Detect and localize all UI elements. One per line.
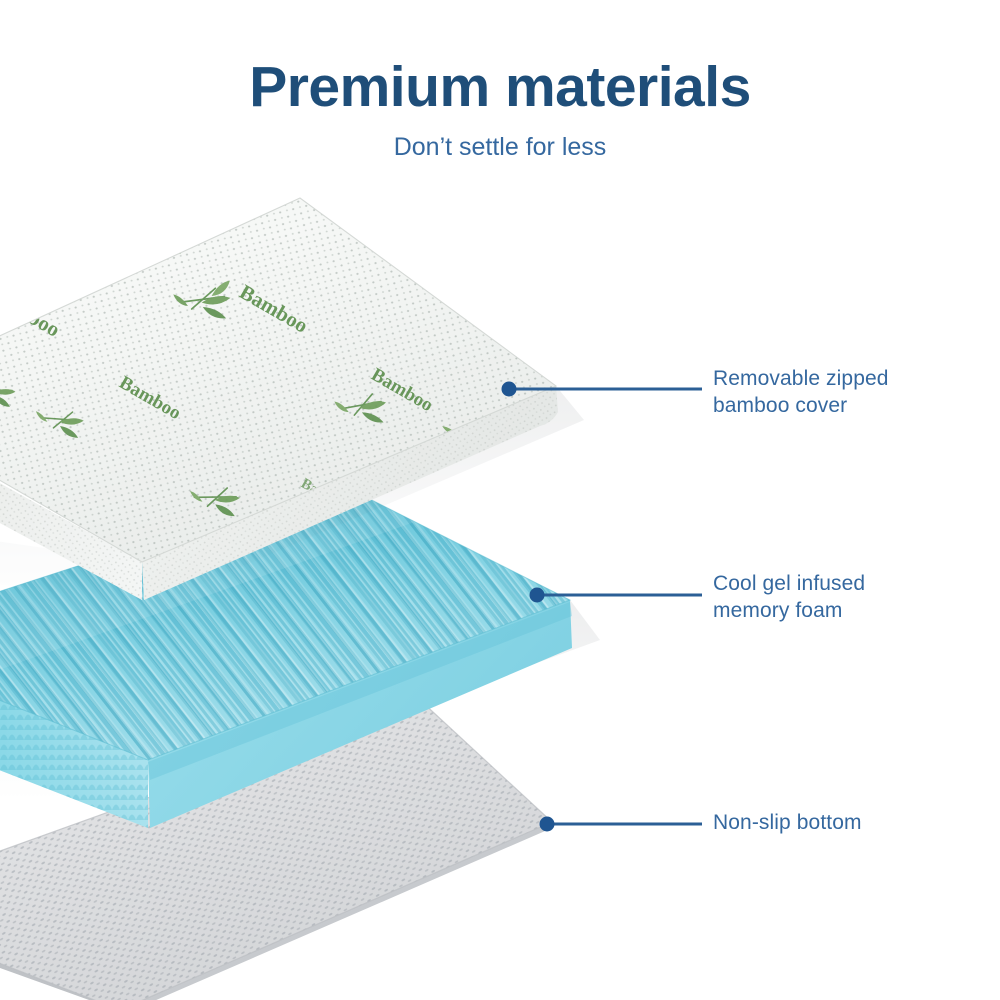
callout-label-removable-zipped-bamboo-cover: Removable zipped bamboo cover: [713, 366, 889, 420]
callout-dot-cover[interactable]: [502, 382, 517, 397]
product-illustration: Bamboo Bamboo Bamboo Bamboo Bamboo: [0, 0, 1000, 1000]
callout-label-non-slip-bottom: Non-slip bottom: [713, 810, 862, 837]
callout-dot-gel-foam[interactable]: [530, 588, 545, 603]
callout-leader-non-slip[interactable]: [540, 817, 703, 832]
infographic-page: Premium materials Don’t settle for less: [0, 0, 1000, 1000]
callout-dot-non-slip[interactable]: [540, 817, 555, 832]
callout-label-cool-gel-infused-memory-foam: Cool gel infused memory foam: [713, 571, 865, 625]
